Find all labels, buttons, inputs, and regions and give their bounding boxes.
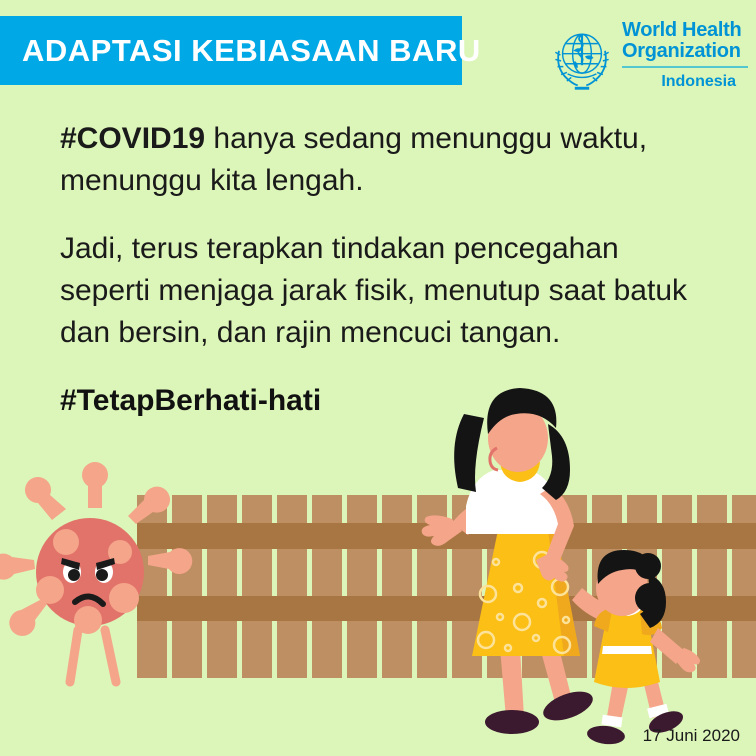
virus-body (36, 518, 144, 626)
who-line-1: World Health (622, 20, 748, 41)
fence-rail-bottom (137, 596, 756, 621)
fence-rail-top (137, 523, 756, 549)
message-block: #COVID19 hanya sedang menunggu waktu, me… (60, 118, 710, 418)
virus-bumps (36, 529, 139, 634)
woman-hand-right (536, 554, 569, 582)
woman-collar (500, 458, 540, 482)
paragraph-1: #COVID19 hanya sedang menunggu waktu, me… (60, 118, 710, 202)
who-emblem-icon (546, 22, 618, 94)
virus-face (61, 558, 115, 604)
woman-figure (422, 388, 597, 734)
fence-slats (137, 495, 756, 678)
girl-hair-front (598, 550, 654, 584)
header-banner: ADAPTASI KEBIASAAN BARU (0, 16, 462, 85)
fence-graphic (137, 495, 756, 678)
woman-skirt-pattern (478, 552, 570, 653)
girl-leg-left (606, 676, 630, 724)
girl-collar (612, 598, 644, 616)
girl-sock-left (601, 715, 622, 728)
girl-head (596, 560, 648, 616)
woman-hair-back (454, 414, 484, 492)
girl-sock-right (647, 704, 669, 719)
girl-arm-right (650, 628, 686, 664)
woman-arm-left (452, 497, 496, 535)
woman-earring (490, 448, 498, 470)
woman-shoe-right (539, 686, 596, 726)
date-stamp: 17 Juni 2020 (643, 726, 740, 746)
girl-hand-right (672, 648, 700, 672)
girl-leg-right (642, 674, 666, 718)
girl-arm-left (572, 588, 610, 622)
paragraph-2: Jadi, terus terapkan tindakan pencegahan… (60, 228, 710, 354)
girl-sleeve-right (640, 608, 662, 635)
woman-skirt (472, 530, 580, 656)
girl-bodice (606, 606, 648, 628)
woman-arm-right (540, 486, 574, 560)
virus-character (0, 462, 192, 682)
banner-title: ADAPTASI KEBIASAAN BARU (0, 33, 481, 69)
girl-hair-bun-top (635, 553, 661, 579)
who-wordmark: World Health Organization Indonesia (622, 20, 748, 91)
who-country-label: Indonesia (622, 73, 748, 91)
woman-neck (508, 440, 532, 466)
virus-spikes (0, 462, 192, 636)
girl-hair-bun-bottom (635, 583, 665, 613)
covid-hashtag: #COVID19 (60, 122, 205, 155)
woman-shoe-left (485, 710, 539, 734)
girl-sleeve-left (594, 608, 612, 632)
who-logo: World Health Organization Indonesia (546, 20, 746, 100)
woman-leg-right (540, 644, 572, 706)
woman-leg-left (500, 648, 524, 718)
girl-dress (594, 620, 660, 688)
woman-hand-left (422, 515, 462, 546)
girl-shoe-left (586, 724, 626, 746)
who-line-2: Organization (622, 41, 748, 62)
virus-legs (70, 630, 116, 682)
who-divider (622, 66, 748, 68)
campaign-hashtag: #TetapBerhati-hati (60, 384, 710, 418)
poster-canvas: ADAPTASI KEBIASAAN BARU (0, 0, 756, 756)
woman-top (466, 470, 558, 534)
girl-dress-belt (602, 646, 652, 654)
girl-hair-back (640, 574, 666, 628)
girl-figure (572, 550, 700, 746)
